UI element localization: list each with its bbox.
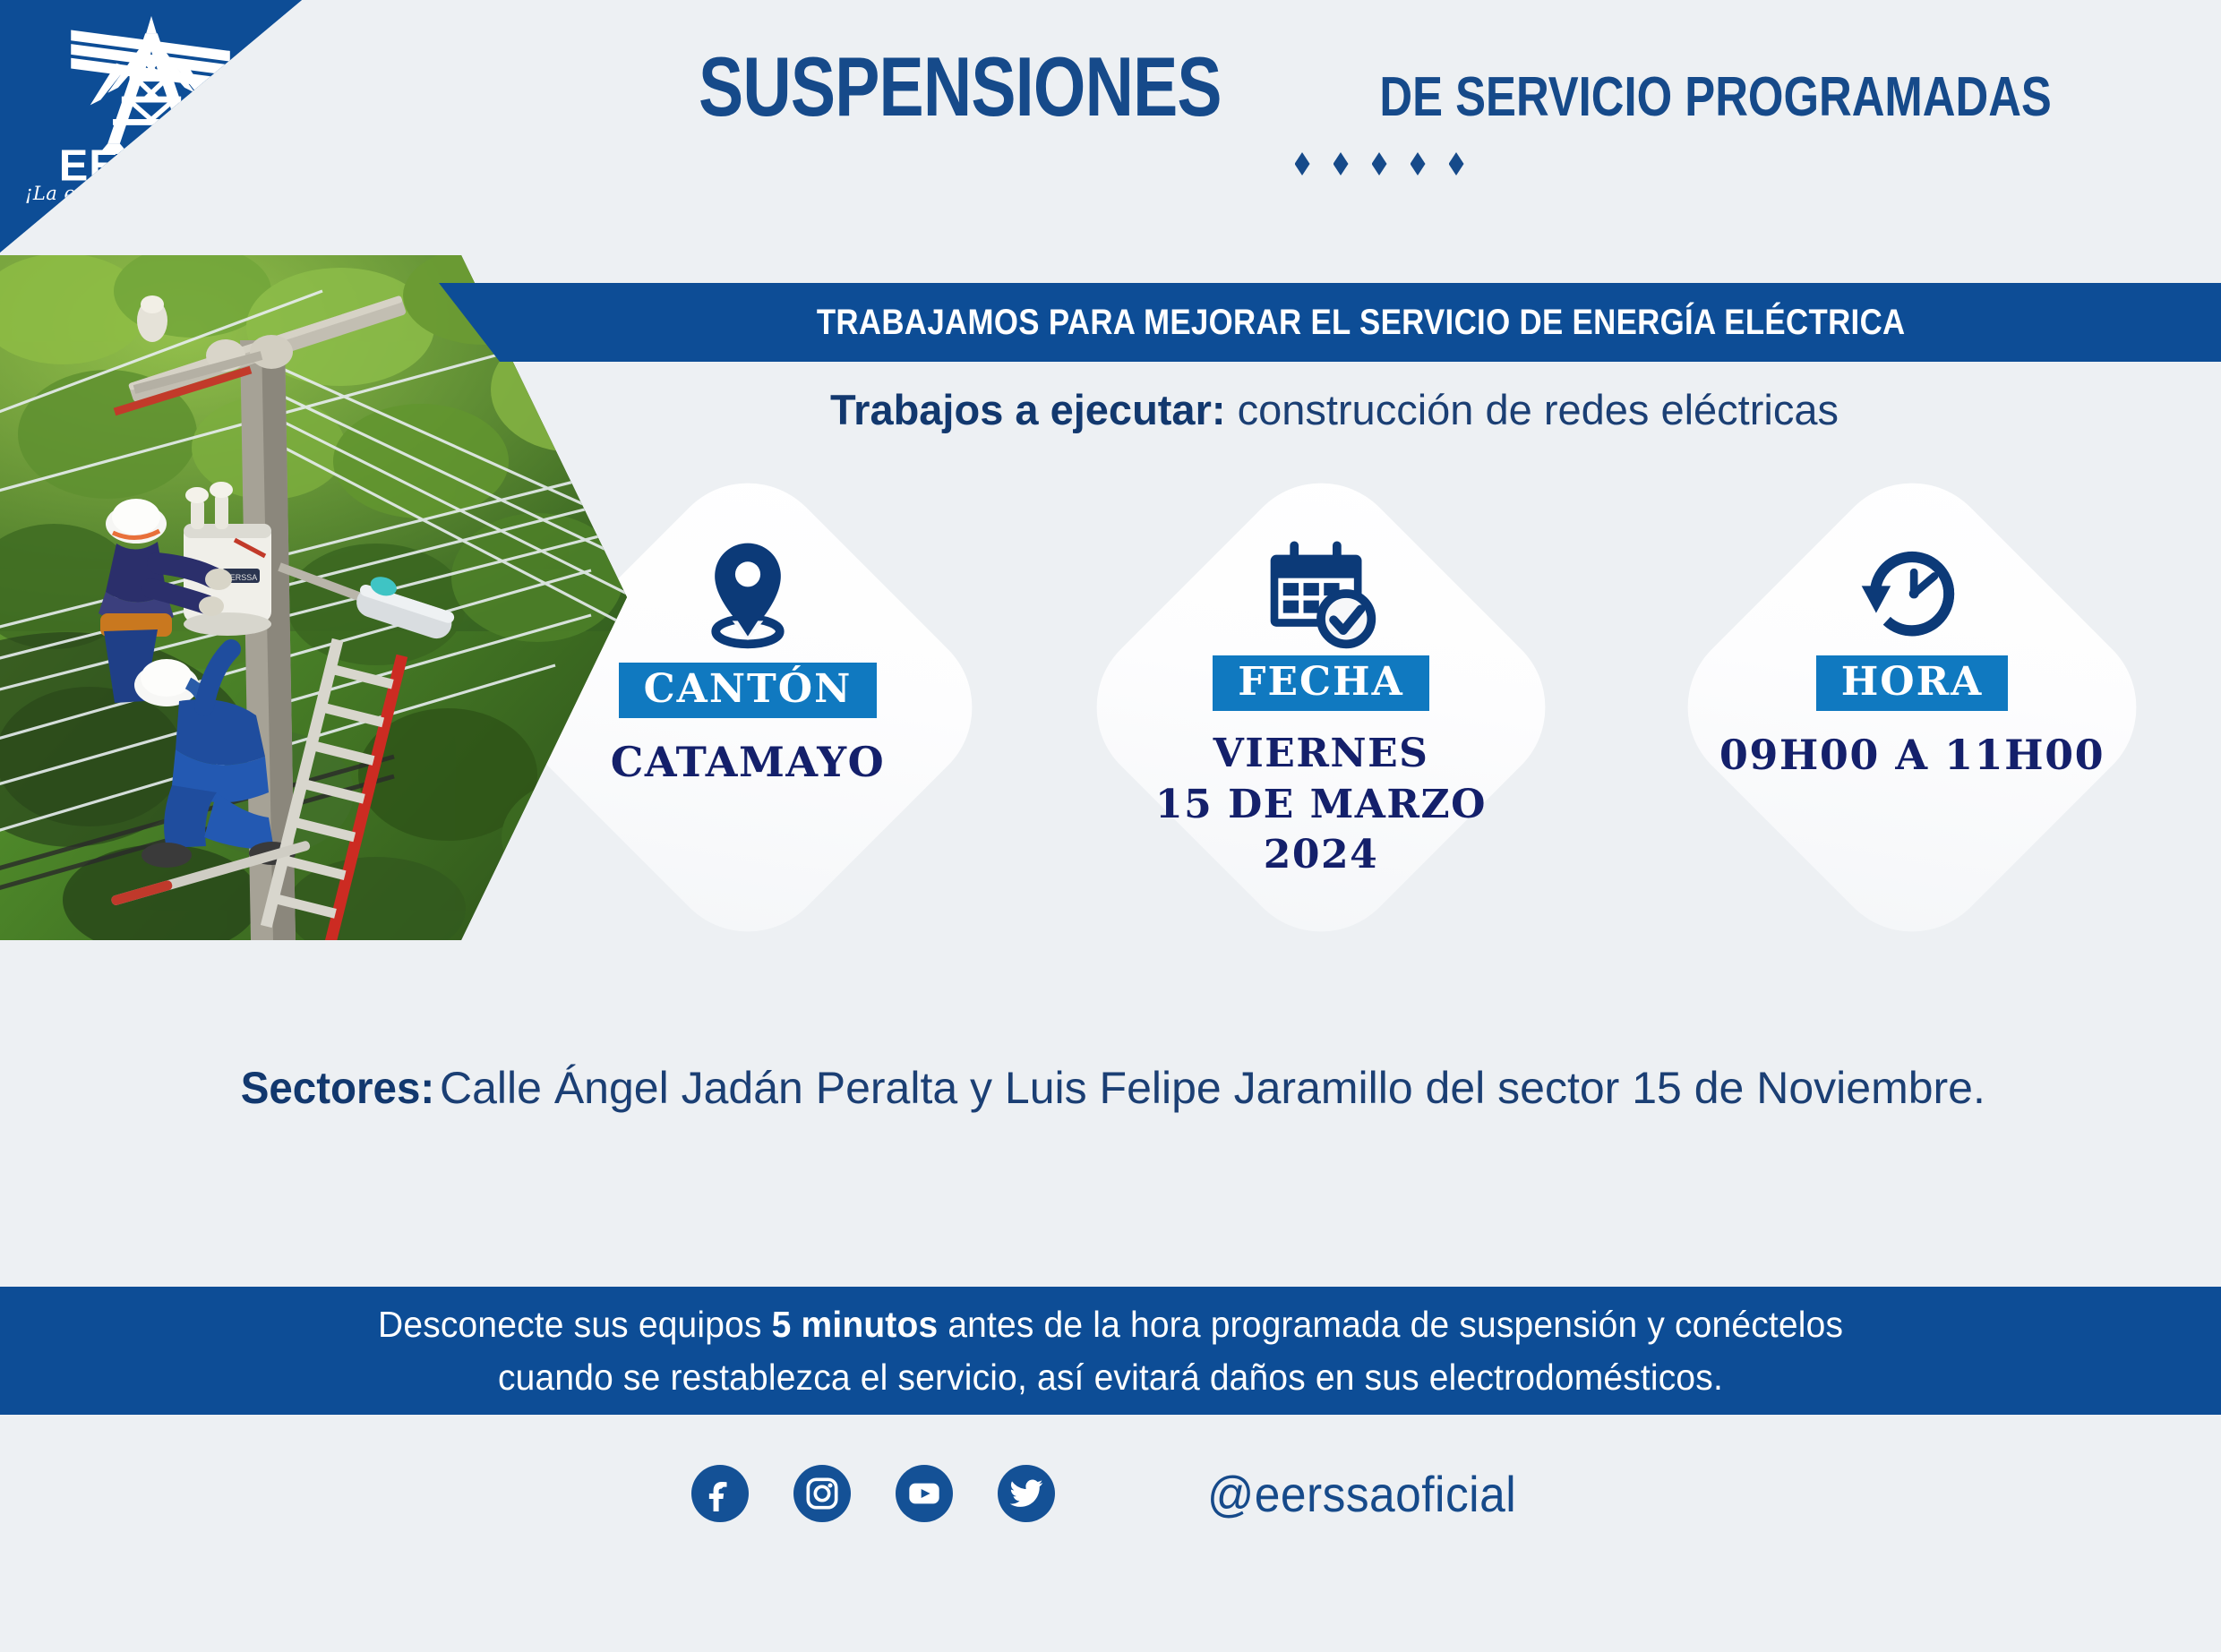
map-pin-icon — [690, 535, 806, 652]
card-value-fecha: VIERNES 15 DE MARZO 2024 — [1155, 729, 1487, 880]
card-value-canton: CATAMAYO — [611, 736, 885, 789]
works-value: construcción de redes eléctricas — [1226, 386, 1839, 433]
instagram-icon[interactable] — [793, 1465, 851, 1522]
card-badge-hora: HORA — [1816, 655, 2009, 711]
page-title-strong: SUSPENSIONES — [698, 45, 1221, 129]
transmission-tower-icon: EERSSA — [54, 13, 249, 192]
info-cards: CANTÓN CATAMAYO — [537, 510, 2185, 1048]
sectors-label: Sectores: — [241, 1062, 434, 1114]
footer-notice-line-1: Desconecte sus equipos 5 minutos antes d… — [378, 1298, 1843, 1350]
slogan-banner: TRABAJAMOS PARA MEJORAR EL SERVICIO DE E… — [439, 283, 2221, 362]
title-dot — [1295, 152, 1310, 175]
brand-logo: EERSSA ¡La energía somos todos! — [0, 0, 302, 253]
page-title-light: DE SERVICIO PROGRAMADAS — [1380, 70, 2052, 125]
social-handle: @eerssaoficial — [1207, 1465, 1516, 1523]
title-dot — [1333, 152, 1349, 175]
footer-notice-highlight: 5 minutos — [772, 1304, 939, 1345]
card-content: FECHA VIERNES 15 DE MARZO 2024 — [1110, 510, 1531, 1048]
card-badge-canton: CANTÓN — [619, 663, 878, 718]
footer-notice-line-2: cuando se restablezca el servicio, así e… — [498, 1351, 1723, 1403]
title-dot — [1372, 152, 1387, 175]
page-title-row: SUSPENSIONES DE SERVICIO PROGRAMADAS — [591, 45, 2167, 129]
sectors-line: Sectores: Calle Ángel Jadán Peralta y Lu… — [54, 1062, 2167, 1114]
calendar-check-icon — [1263, 535, 1379, 652]
footer-notice-bar: Desconecte sus equipos 5 minutos antes d… — [0, 1287, 2221, 1415]
poster-canvas: EERSSA — [0, 0, 2221, 1652]
twitter-icon[interactable] — [998, 1465, 1055, 1522]
footer-notice-1c: antes de la hora programada de suspensió… — [938, 1304, 1843, 1345]
brand-logo-block: EERSSA ¡La energía somos todos! — [0, 0, 484, 253]
card-badge-fecha: FECHA — [1213, 655, 1429, 711]
svg-text:EERSSA: EERSSA — [58, 141, 243, 190]
youtube-icon[interactable] — [896, 1465, 953, 1522]
title-dots-decoration — [591, 152, 2167, 175]
card-content: HORA 09H00 A 11H00 — [1702, 510, 2122, 1048]
social-row: @eerssaoficial — [0, 1440, 2221, 1547]
footer-notice-1a: Desconecte sus equipos — [378, 1304, 772, 1345]
info-card-fecha: FECHA VIERNES 15 DE MARZO 2024 — [1110, 510, 1531, 1048]
works-label: Trabajos a ejecutar: — [830, 386, 1225, 433]
card-value-hora: 09H00 A 11H00 — [1719, 729, 2105, 782]
title-dot — [1449, 152, 1464, 175]
social-icon-group — [691, 1465, 1055, 1522]
sectors-value: Calle Ángel Jadán Peralta y Luis Felipe … — [440, 1062, 1985, 1114]
slogan-banner-text: TRABAJAMOS PARA MEJORAR EL SERVICIO DE E… — [817, 303, 1906, 343]
facebook-icon[interactable] — [691, 1465, 749, 1522]
clock-rotate-icon — [1854, 535, 1970, 652]
title-dot — [1411, 152, 1426, 175]
page-title: SUSPENSIONES DE SERVICIO PROGRAMADAS — [591, 45, 2167, 175]
works-description: Trabajos a ejecutar: construcción de red… — [502, 385, 2167, 434]
info-card-hora: HORA 09H00 A 11H00 — [1702, 510, 2122, 1048]
